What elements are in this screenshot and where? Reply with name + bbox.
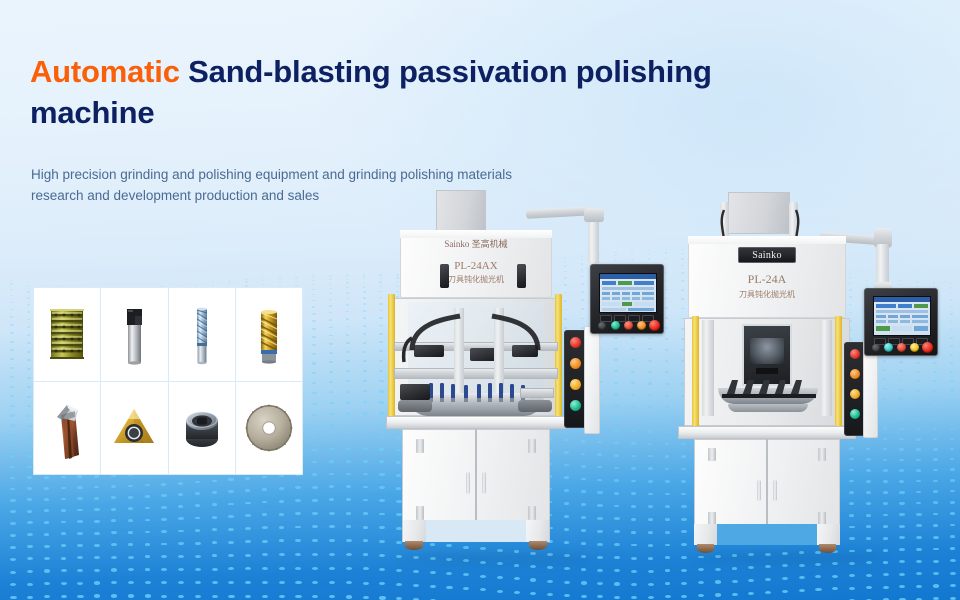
start-button-cyan[interactable] xyxy=(884,343,893,352)
cabinet-handle-left[interactable] xyxy=(757,480,761,501)
cutting-tool-gallery xyxy=(33,287,303,475)
brand-badge: Sainko xyxy=(738,247,796,263)
mesh-row xyxy=(0,573,960,577)
cabinet-hinge-top-left xyxy=(708,448,716,461)
model-label-cn: 刀具钝化抛光机 xyxy=(688,289,846,300)
brush-fixture-array xyxy=(722,378,818,400)
reset-button-yellow[interactable] xyxy=(910,343,919,352)
selector-switch[interactable] xyxy=(598,322,606,330)
leveling-foot-left xyxy=(697,544,714,553)
cabinet-leg-right xyxy=(526,520,550,542)
tower-lamp-amber xyxy=(850,389,860,399)
rotary-table-base xyxy=(728,404,808,412)
model-label-cn: 刀具钝化抛光机 xyxy=(400,274,552,285)
product-banner: Automatic Sand-blasting passivation poli… xyxy=(0,0,960,600)
chamber-column-right xyxy=(820,320,832,416)
selector-switch[interactable] xyxy=(872,344,880,352)
tool-cell-carbide-end-mill[interactable] xyxy=(169,288,235,381)
chamber-column-left xyxy=(702,320,714,416)
nozzle-shroud-left xyxy=(398,400,432,412)
cabinet-leg-right xyxy=(817,524,840,545)
cabinet-hinge-bottom-left xyxy=(416,506,424,520)
tool-cell-circular-saw-blade[interactable] xyxy=(236,382,302,475)
safety-light-curtain-left xyxy=(388,294,395,418)
tool-cell-grooving-insert-holder[interactable] xyxy=(101,288,167,381)
chamber-nozzle xyxy=(756,368,778,374)
reset-button-orange[interactable] xyxy=(637,321,646,330)
cabinet-handle-right[interactable] xyxy=(773,480,777,501)
tool-cell-gear-hob-cutter[interactable] xyxy=(34,288,100,381)
cabinet-handle-right[interactable] xyxy=(482,472,486,494)
tower-lamp-orange xyxy=(570,358,581,369)
machine-left[interactable]: Sainko 圣高机械 PL-24AX 刀具钝化抛光机 xyxy=(378,190,678,570)
worktop-slab xyxy=(678,426,856,439)
safety-light-curtain-right xyxy=(835,316,842,428)
tower-lamp-amber xyxy=(570,379,581,390)
hmi-control-panel[interactable] xyxy=(590,264,664,334)
start-button-green[interactable] xyxy=(611,321,620,330)
hmi-control-panel[interactable] xyxy=(864,288,938,356)
accessory-box-left xyxy=(400,384,430,400)
hmi-screen[interactable] xyxy=(599,273,657,313)
tower-lamp-green xyxy=(570,400,581,411)
tool-cell-twist-drill-bit[interactable] xyxy=(34,382,100,475)
chamber-interior-cone xyxy=(750,338,784,364)
hmi-softkey-1[interactable] xyxy=(600,315,612,322)
cabinet-leg-cutout xyxy=(426,520,526,542)
accessory-tray-right xyxy=(520,388,554,398)
tool-cell-threading-insert[interactable] xyxy=(101,382,167,475)
cabinet-hinge-top-left xyxy=(416,439,424,453)
stop-button-red[interactable] xyxy=(624,321,633,330)
machine-shadow xyxy=(694,552,884,564)
arm-joint xyxy=(584,208,604,222)
cabinet-handle-left[interactable] xyxy=(466,472,470,494)
stop-button-red[interactable] xyxy=(897,343,906,352)
head-top-highlight xyxy=(688,236,846,244)
tool-cell-boring-head-tool[interactable] xyxy=(169,382,235,475)
hmi-screen[interactable] xyxy=(873,296,931,336)
safety-light-curtain-left xyxy=(692,316,699,428)
head-rail-left xyxy=(440,264,449,288)
tower-lamp-red xyxy=(850,349,860,359)
headline-accent-word: Automatic xyxy=(30,54,180,89)
cabinet-leg-left xyxy=(694,524,717,545)
tower-mount-post xyxy=(584,326,600,434)
head-rail-right xyxy=(517,264,526,288)
model-label: PL-24A xyxy=(688,272,846,287)
leveling-foot-right xyxy=(529,541,547,550)
machine-right[interactable]: Sainko PL-24A 刀具钝化抛光机 xyxy=(672,192,960,572)
page-title: Automatic Sand-blasting passivation poli… xyxy=(30,52,720,134)
emergency-stop-button[interactable] xyxy=(922,342,933,353)
nozzle-shroud-right xyxy=(518,400,552,412)
cable-hoses xyxy=(398,300,558,370)
brand-label: Sainko 圣高机械 xyxy=(400,237,552,250)
leveling-foot-left xyxy=(405,541,423,550)
cabinet-leg-left xyxy=(402,520,426,542)
tower-lamp-green xyxy=(850,409,860,419)
mesh-row xyxy=(0,587,960,591)
cabinet-leg-cutout xyxy=(717,524,817,545)
cabinet-hinge-bottom-right xyxy=(528,506,536,520)
tower-lamp-orange xyxy=(850,369,860,379)
machine-shadow xyxy=(396,552,596,564)
cabinet-hinge-top-right xyxy=(528,439,536,453)
tool-cell-tin-coated-roughing-end-mill[interactable] xyxy=(236,288,302,381)
worktop-slab xyxy=(386,416,566,429)
cabinet-hinge-top-right xyxy=(818,448,826,461)
tower-lamp-red xyxy=(570,337,581,348)
leveling-foot-right xyxy=(819,544,836,553)
model-label: PL-24AX xyxy=(400,260,552,272)
emergency-stop-button[interactable] xyxy=(649,320,660,331)
